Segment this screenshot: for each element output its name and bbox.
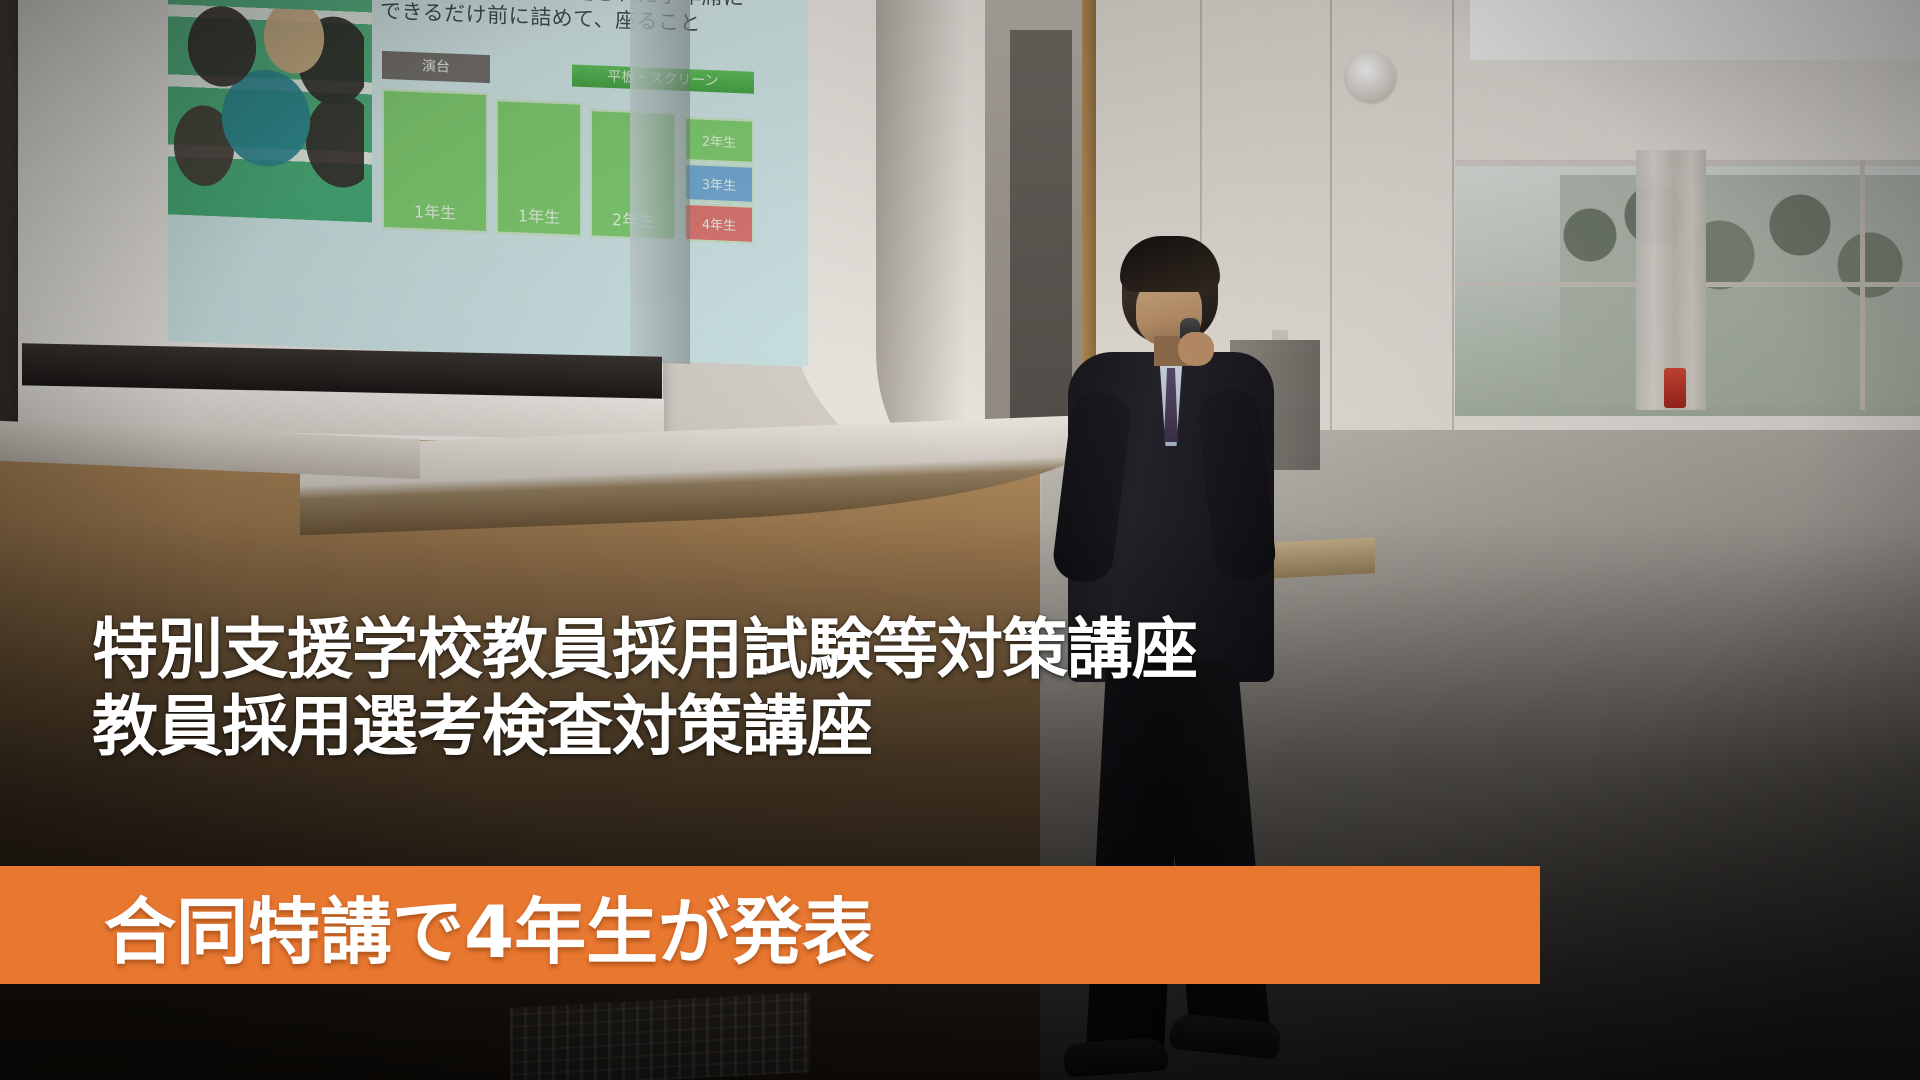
speaker-shoe-left (1063, 1036, 1169, 1077)
curved-wall-shadow (876, 0, 966, 470)
overlay-title: 特別支援学校教員採用試験等対策講座 教員採用選考検査対策講座 (92, 612, 1197, 765)
slide-text: 中通路より前に、指定された学年席に できるだけ前に詰めて、座ること (380, 0, 800, 41)
slide-photo (168, 0, 372, 222)
highlight-banner-text: 合同特講で4年生が発表 (0, 873, 874, 978)
wall-clock (1346, 52, 1396, 102)
window-view-trees (1560, 175, 1920, 405)
slide-seat-block: 1年生 (496, 99, 582, 236)
overlay-title-line-1: 特別支援学校教員採用試験等対策講座 (92, 612, 1197, 689)
video-frame: 中通路より前に、指定された学年席に できるだけ前に詰めて、座ること 演台 平板・… (0, 0, 1920, 1080)
fire-alarm-icon (1664, 368, 1686, 408)
slide-seat-block: 1年生 (382, 89, 488, 233)
floor-grate (510, 992, 810, 1080)
slide-canvas: 中通路より前に、指定された学年席に できるだけ前に詰めて、座ること 演台 平板・… (168, 0, 808, 367)
wall-seam (1452, 0, 1454, 440)
speaker-hand (1178, 332, 1214, 366)
clerestory-window (1470, 0, 1920, 60)
screen-right-edge (630, 0, 690, 364)
slide-side-block: 2年生 (684, 117, 754, 164)
wall-seam (1330, 0, 1332, 440)
wall-recess-dark (1010, 30, 1072, 460)
slide-side-block: 3年生 (684, 163, 754, 204)
overlay-title-line-2: 教員採用選考検査対策講座 (92, 689, 1197, 766)
slide-podium-label: 演台 (382, 51, 490, 83)
slide-side-block: 4年生 (684, 203, 754, 244)
highlight-banner: 合同特講で4年生が発表 (0, 866, 1540, 984)
floor-block (1265, 537, 1375, 579)
